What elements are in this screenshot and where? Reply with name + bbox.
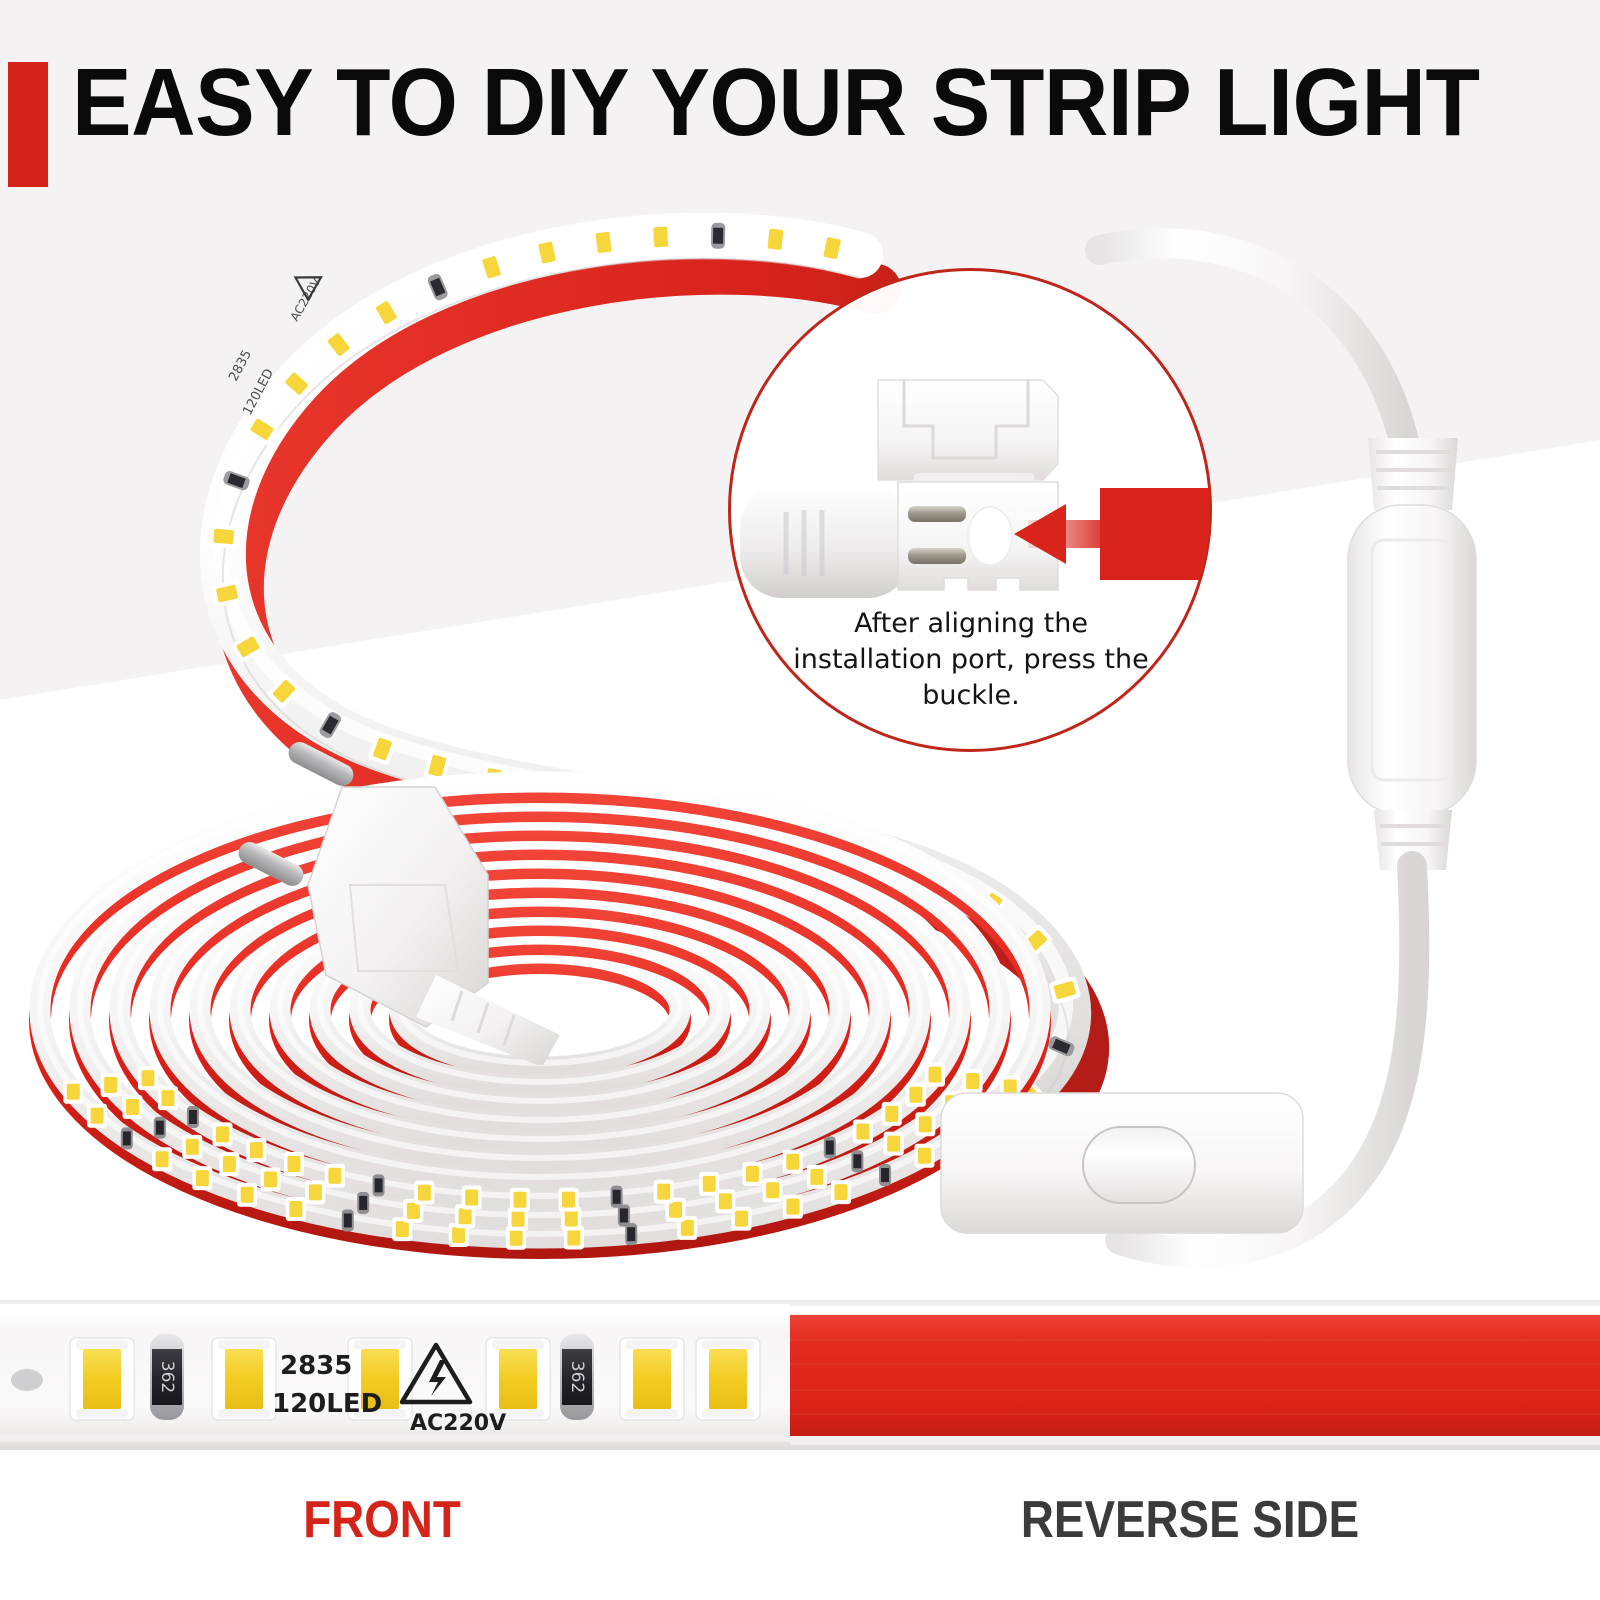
resistor-code: 362: [567, 1361, 587, 1393]
coil-led-chip: [241, 1187, 254, 1203]
coil-led-chip: [567, 1229, 580, 1245]
inline-rocker-switch[interactable]: [935, 1085, 1310, 1240]
coil-led-chip: [746, 1166, 759, 1182]
infographic-canvas: EASY TO DIY YOUR STRIP LIGHT: [0, 0, 1600, 1600]
coil-led-chip: [264, 1171, 277, 1187]
coil-led-chip: [407, 1203, 420, 1219]
coil-led-chip: [459, 1208, 472, 1224]
led-chip: [225, 1348, 263, 1410]
print-chip: 2835: [280, 1351, 352, 1381]
coil-led-chip: [719, 1193, 732, 1209]
coil-led-chip: [735, 1211, 748, 1227]
label-reverse-side: REVERSE SIDE: [1014, 1490, 1366, 1550]
led-chip: [709, 1348, 747, 1410]
coil-led-chip: [810, 1169, 823, 1185]
coil-led-chip: [141, 1070, 154, 1086]
coil-led-chip: [418, 1185, 431, 1201]
coil-led-chip: [309, 1184, 322, 1200]
coil-led-chip: [287, 1156, 300, 1172]
strip-led-chip: [653, 227, 668, 248]
installation-port-hole: [968, 507, 1012, 565]
marking-chip: 2835: [226, 348, 255, 384]
coil-led-chip: [703, 1176, 716, 1192]
coil-led-chip: [856, 1123, 869, 1139]
contact-pin-bottom: [908, 548, 966, 564]
resistor-code: 362: [157, 1361, 177, 1393]
coil-led-chip: [786, 1154, 799, 1170]
coil-led-chip: [657, 1184, 670, 1200]
switch-rocker-button: [1083, 1127, 1195, 1203]
coil-led-chip: [786, 1199, 799, 1215]
coil-led-chip: [67, 1084, 80, 1100]
label-front: FRONT: [294, 1490, 470, 1550]
page-title: EASY TO DIY YOUR STRIP LIGHT: [72, 48, 1480, 158]
strip-led-chip: [213, 529, 234, 545]
strip-led-chip: [595, 232, 612, 254]
coil-led-chip: [885, 1106, 898, 1122]
coil-led-chip: [562, 1192, 575, 1208]
callout-detail: After aligning the installation port, pr…: [728, 268, 1212, 752]
eu-power-plug: [230, 735, 650, 1065]
driver-boot-top: [1368, 438, 1458, 510]
coil-led-chip: [510, 1230, 523, 1246]
coil-led-chip: [918, 1148, 931, 1164]
coil-led-chip: [887, 1136, 900, 1152]
led-chip: [499, 1348, 537, 1410]
coil-led-chip: [328, 1168, 341, 1184]
coil-led-chip: [834, 1184, 847, 1200]
coil-led-chip: [161, 1090, 174, 1106]
connector-socket-icon: [740, 482, 1058, 598]
coil-led-chip: [396, 1221, 409, 1237]
print-density: 120LED: [272, 1389, 382, 1419]
coil-led-chip: [91, 1108, 104, 1124]
strip-led-chip: [767, 229, 783, 250]
coil-led-chip: [289, 1201, 302, 1217]
coil-led-chip: [104, 1077, 117, 1093]
led-chip: [83, 1348, 121, 1410]
coil-led-chip: [126, 1099, 139, 1115]
header-accent-bar: [8, 62, 48, 187]
coil-led-chip: [909, 1087, 922, 1103]
coil-led-chip: [512, 1211, 525, 1227]
coil-led-chip: [766, 1182, 779, 1198]
callout-instruction-text: After aligning the installation port, pr…: [776, 606, 1166, 715]
coil-led-chip: [250, 1142, 263, 1158]
power-driver-box: [1348, 505, 1476, 815]
coil-led-chip: [452, 1227, 465, 1243]
strip-detail-front-reverse: 362362 2835 120LED AC220V: [0, 1292, 1600, 1457]
coil-led-chip: [565, 1211, 578, 1227]
print-voltage: AC220V: [410, 1411, 506, 1436]
coil-led-chip: [669, 1202, 682, 1218]
coil-led-chip: [681, 1220, 694, 1236]
coil-led-chip: [186, 1139, 199, 1155]
coil-led-chip: [156, 1151, 169, 1167]
coil-led-chip: [928, 1067, 941, 1083]
coil-led-chip: [196, 1170, 209, 1186]
strip-side-rivet: [11, 1369, 43, 1391]
header: EASY TO DIY YOUR STRIP LIGHT: [0, 52, 1600, 172]
coil-led-chip: [223, 1156, 236, 1172]
connector-buckle-icon: [878, 380, 1058, 487]
coil-led-chip: [465, 1189, 478, 1205]
coil-led-chip: [919, 1116, 932, 1132]
strip-front-view: 362362 2835 120LED AC220V: [0, 1300, 800, 1450]
contact-pin-top: [908, 506, 966, 522]
coil-led-chip: [513, 1192, 526, 1208]
plug-cable-boot: [416, 975, 560, 1065]
coil-led-chip: [216, 1126, 229, 1142]
led-chip: [633, 1348, 671, 1410]
strip-reverse-view: [790, 1300, 1600, 1450]
